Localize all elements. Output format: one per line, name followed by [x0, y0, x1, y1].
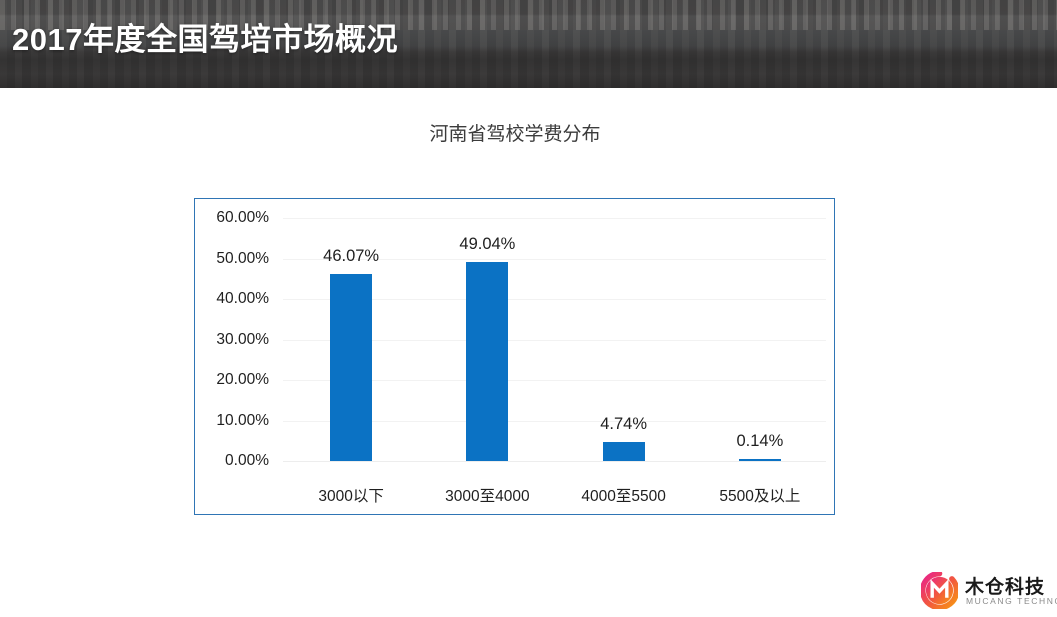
chart-container: 60.00%50.00%40.00%30.00%20.00%10.00%0.00… — [194, 198, 835, 515]
x-axis-category-label: 3000至4000 — [445, 484, 529, 506]
gridline — [283, 461, 826, 462]
chart-bar — [739, 459, 781, 462]
y-axis-tick-label: 60.00% — [185, 209, 269, 227]
logo-name-en: MUCANG TECHNOLOGY — [966, 596, 1057, 606]
bar-value-label: 49.04% — [459, 235, 515, 254]
bar-value-label: 46.07% — [323, 247, 379, 266]
chart-plot-area: 60.00%50.00%40.00%30.00%20.00%10.00%0.00… — [195, 199, 834, 514]
y-axis-tick-label: 40.00% — [185, 290, 269, 308]
brand-logo: 木仓科技 MUCANG TECHNOLOGY — [921, 570, 1049, 612]
header-banner: 2017年度全国驾培市场概况 — [0, 0, 1057, 88]
y-axis-tick-label: 10.00% — [185, 412, 269, 430]
x-axis-category-label: 4000至5500 — [581, 484, 665, 506]
page-title: 2017年度全国驾培市场概况 — [12, 14, 398, 59]
logo-name-cn: 木仓科技 — [965, 572, 1045, 599]
y-axis-tick-label: 20.00% — [185, 371, 269, 389]
chart-title: 河南省驾校学费分布 — [0, 119, 1030, 146]
chart-bar — [603, 442, 645, 461]
y-axis-tick-label: 50.00% — [185, 250, 269, 268]
x-axis-category-label: 5500及以上 — [719, 484, 800, 506]
bar-value-label: 4.74% — [600, 415, 647, 434]
chart-bar — [466, 262, 508, 461]
y-axis-tick-label: 0.00% — [185, 452, 269, 470]
mucang-m-ring-icon — [921, 572, 958, 609]
y-axis-tick-label: 30.00% — [185, 331, 269, 349]
x-axis-category-label: 3000以下 — [318, 484, 383, 506]
bar-value-label: 0.14% — [736, 432, 783, 451]
chart-bar — [330, 274, 372, 461]
gridline — [283, 218, 826, 219]
